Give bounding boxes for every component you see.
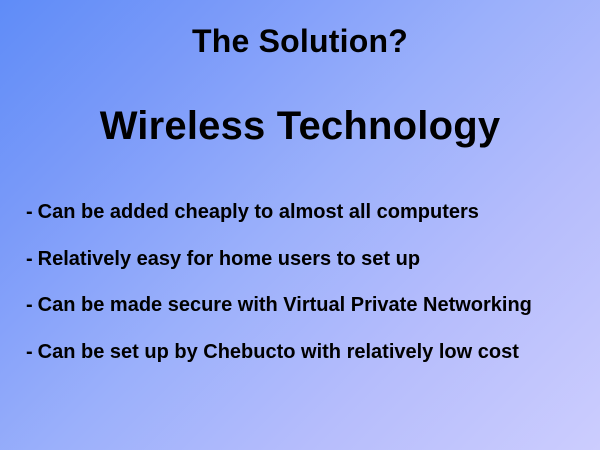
list-item-label: Can be made secure with Virtual Private … (38, 294, 532, 316)
bullet-dash-icon: - (26, 340, 33, 364)
bullet-dash-icon: - (26, 200, 33, 224)
bullet-dash-icon: - (26, 247, 33, 271)
list-item: -Can be made secure with Virtual Private… (26, 293, 586, 340)
list-item-label: Relatively easy for home users to set up (38, 248, 420, 270)
page-title: The Solution? (0, 24, 600, 58)
list-item: -Can be set up by Chebucto with relative… (26, 340, 586, 387)
list-item: -Can be added cheaply to almost all comp… (26, 200, 586, 247)
bullet-dash-icon: - (26, 293, 33, 317)
slide-subtitle: Wireless Technology (0, 105, 600, 147)
list-item-label: Can be added cheaply to almost all compu… (38, 201, 479, 223)
bullet-list: -Can be added cheaply to almost all comp… (26, 200, 586, 386)
presentation-slide: The Solution? Wireless Technology -Can b… (0, 0, 600, 450)
list-item: -Relatively easy for home users to set u… (26, 247, 586, 294)
list-item-label: Can be set up by Chebucto with relativel… (38, 341, 519, 363)
